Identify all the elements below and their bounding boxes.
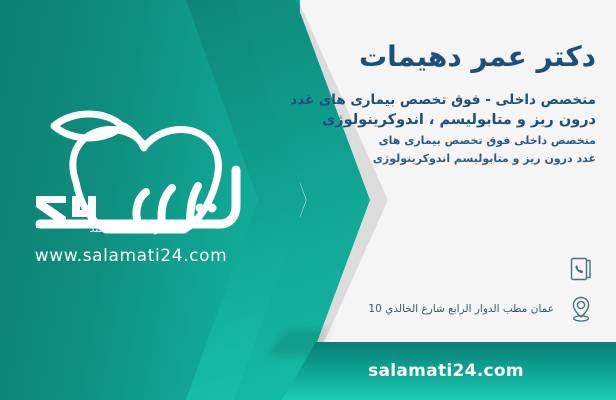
- doctor-specialty-line-2: درون ریز و متابولیسم ، اندوکرینولوژی: [322, 112, 596, 128]
- location-pin-icon: [564, 292, 598, 326]
- logo-tagline: به راحتی یک لبخند: [0, 222, 262, 235]
- doctor-specialty-line-4: غدد درون ریز و متابولیسم اندوکرینولوژی: [373, 152, 596, 165]
- footer-bar: salamati24.com: [282, 342, 616, 400]
- doctor-specialty-line-1: متخصص داخلی - فوق تخصص بیماری های غدد: [290, 92, 596, 108]
- doctor-profile-card: به راحتی یک لبخند www.salamati24.com دکت…: [0, 0, 616, 400]
- contact-phone-row[interactable]: [554, 252, 598, 286]
- logo-website-url[interactable]: www.salamati24.com: [0, 246, 262, 266]
- contact-address-row[interactable]: عمان مطب الدوار الرابع شارع الخالدي 10: [368, 292, 598, 326]
- doctor-specialty-line-3: متخصص داخلی فوق تخصص بیماری های: [379, 134, 596, 147]
- phonebook-icon: [564, 252, 598, 286]
- doctor-name: دکتر عمر دهیمات: [359, 40, 596, 73]
- footer-website-label[interactable]: salamati24.com: [282, 342, 616, 400]
- salamati24-logo: [14, 96, 276, 268]
- contact-address-text: عمان مطب الدوار الرابع شارع الخالدي 10: [368, 303, 554, 315]
